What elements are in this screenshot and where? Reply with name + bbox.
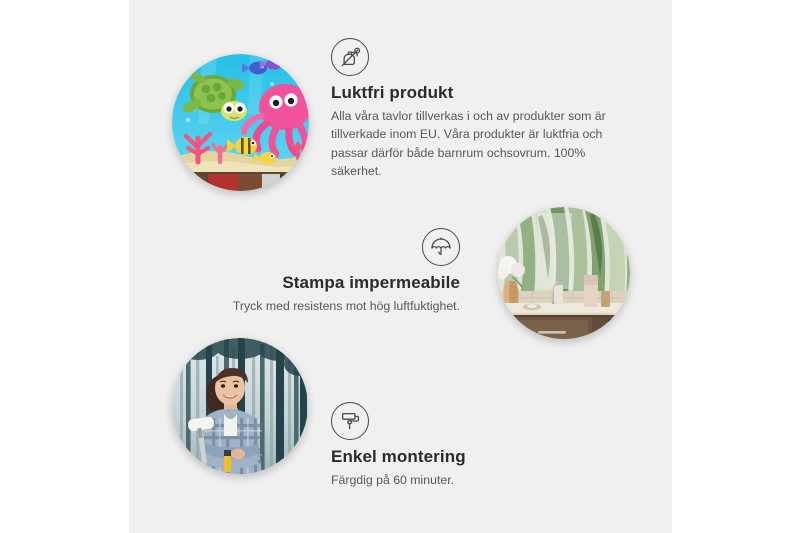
photo-woman-with-paint-roller-forest xyxy=(172,338,308,474)
photo-woman-roller-inner xyxy=(172,338,308,474)
feature-easy-installation: Enkel montering Färgdig på 60 minuter. xyxy=(331,402,571,489)
feature-description: Alla våra tavlor tillverkas i och av pro… xyxy=(331,107,629,180)
feature-title: Stampa impermeabile xyxy=(200,272,460,293)
feature-waterproof-print: Stampa impermeabile Tryck med resistens … xyxy=(200,228,460,315)
page-root: Luktfri produkt Alla våra tavlor tillver… xyxy=(0,0,800,533)
no-fragrance-icon xyxy=(331,38,369,76)
umbrella-icon xyxy=(422,228,460,266)
feature-description: Tryck med resistens mot hög luftfuktighe… xyxy=(200,297,460,315)
bathroom-photo-illustration xyxy=(498,207,630,339)
paint-roller-icon xyxy=(331,402,369,440)
photo-underwater-kids-mural-inner xyxy=(172,54,309,191)
photo-underwater-kids-mural xyxy=(172,54,309,191)
underwater-scene-illustration xyxy=(172,54,309,191)
woman-roller-forest-illustration xyxy=(172,338,308,474)
photo-bathroom-botanical-wallpaper xyxy=(498,207,630,339)
feature-title: Enkel montering xyxy=(331,446,571,467)
feature-description: Färgdig på 60 minuter. xyxy=(331,471,571,489)
feature-title: Luktfri produkt xyxy=(331,82,629,103)
photo-bathroom-botanical-inner xyxy=(498,207,630,339)
feature-odour-free: Luktfri produkt Alla våra tavlor tillver… xyxy=(331,38,629,180)
